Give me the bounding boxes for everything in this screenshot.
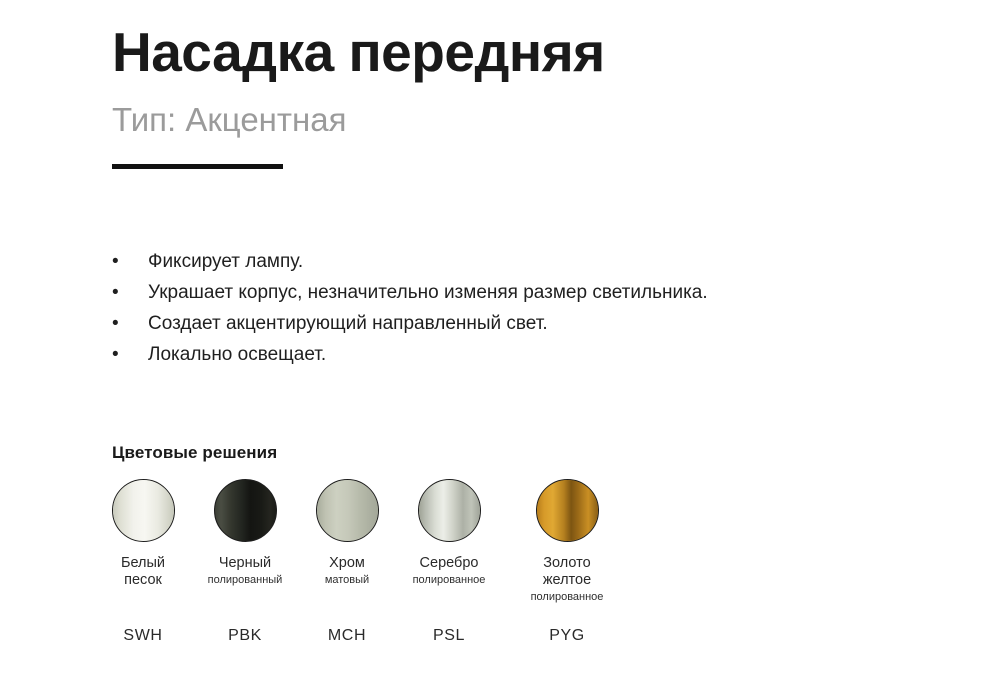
- swatch-disc[interactable]: [214, 479, 277, 542]
- color-options-heading: Цветовые решения: [112, 443, 932, 463]
- swatch-name: Золотожелтое: [508, 555, 626, 589]
- title-divider: [112, 164, 283, 169]
- swatch-disc[interactable]: [536, 479, 599, 542]
- color-swatch-row: БелыйпесокSWHЧерныйполированныйPBKХромма…: [112, 479, 932, 679]
- swatch-code: MCH: [288, 627, 406, 645]
- color-options-section: Цветовые решения БелыйпесокSWHЧерныйполи…: [112, 443, 932, 679]
- color-swatch-psl[interactable]: СереброполированноеPSL: [390, 479, 508, 587]
- color-swatch-pyg[interactable]: ЗолотожелтоеполированноеPYG: [508, 479, 626, 604]
- feature-item: •Создает акцентирующий направленный свет…: [112, 308, 932, 339]
- page-subtitle: Тип: Акцентная: [112, 102, 932, 138]
- swatch-disc[interactable]: [418, 479, 481, 542]
- swatch-finish: полированное: [508, 590, 626, 604]
- swatch-code: PBK: [186, 627, 304, 645]
- swatch-gradient: [215, 480, 276, 541]
- swatch-finish: матовый: [288, 573, 406, 587]
- swatch-gradient: [113, 480, 174, 541]
- feature-text: Фиксирует лампу.: [148, 246, 932, 277]
- swatch-name: Хром: [288, 555, 406, 572]
- swatch-gradient: [317, 480, 378, 541]
- swatch-finish: полированный: [186, 573, 304, 587]
- swatch-name: Черный: [186, 555, 304, 572]
- color-swatch-mch[interactable]: ХромматовыйMCH: [288, 479, 406, 587]
- swatch-gradient: [419, 480, 480, 541]
- bullet-icon: •: [112, 308, 148, 339]
- feature-text: Локально освещает.: [148, 339, 932, 370]
- swatch-finish: полированное: [390, 573, 508, 587]
- feature-text: Украшает корпус, незначительно изменяя р…: [148, 277, 932, 308]
- swatch-code: PYG: [508, 627, 626, 645]
- feature-item: •Украшает корпус, незначительно изменяя …: [112, 277, 932, 308]
- product-spec-page: Насадка передняя Тип: Акцентная •Фиксиру…: [0, 0, 1000, 700]
- page-title: Насадка передняя: [112, 24, 932, 82]
- swatch-code: PSL: [390, 627, 508, 645]
- swatch-name: Белыйпесок: [84, 555, 202, 589]
- swatch-disc[interactable]: [316, 479, 379, 542]
- bullet-icon: •: [112, 339, 148, 370]
- header: Насадка передняя Тип: Акцентная: [112, 24, 932, 169]
- feature-item: •Фиксирует лампу.: [112, 246, 932, 277]
- swatch-disc[interactable]: [112, 479, 175, 542]
- bullet-icon: •: [112, 246, 148, 277]
- color-swatch-swh[interactable]: БелыйпесокSWH: [84, 479, 202, 589]
- feature-item: •Локально освещает.: [112, 339, 932, 370]
- swatch-gradient: [537, 480, 598, 541]
- color-swatch-pbk[interactable]: ЧерныйполированныйPBK: [186, 479, 304, 587]
- swatch-name: Серебро: [390, 555, 508, 572]
- feature-text: Создает акцентирующий направленный свет.: [148, 308, 932, 339]
- feature-list: •Фиксирует лампу.•Украшает корпус, незна…: [112, 246, 932, 370]
- swatch-code: SWH: [84, 627, 202, 645]
- bullet-icon: •: [112, 277, 148, 308]
